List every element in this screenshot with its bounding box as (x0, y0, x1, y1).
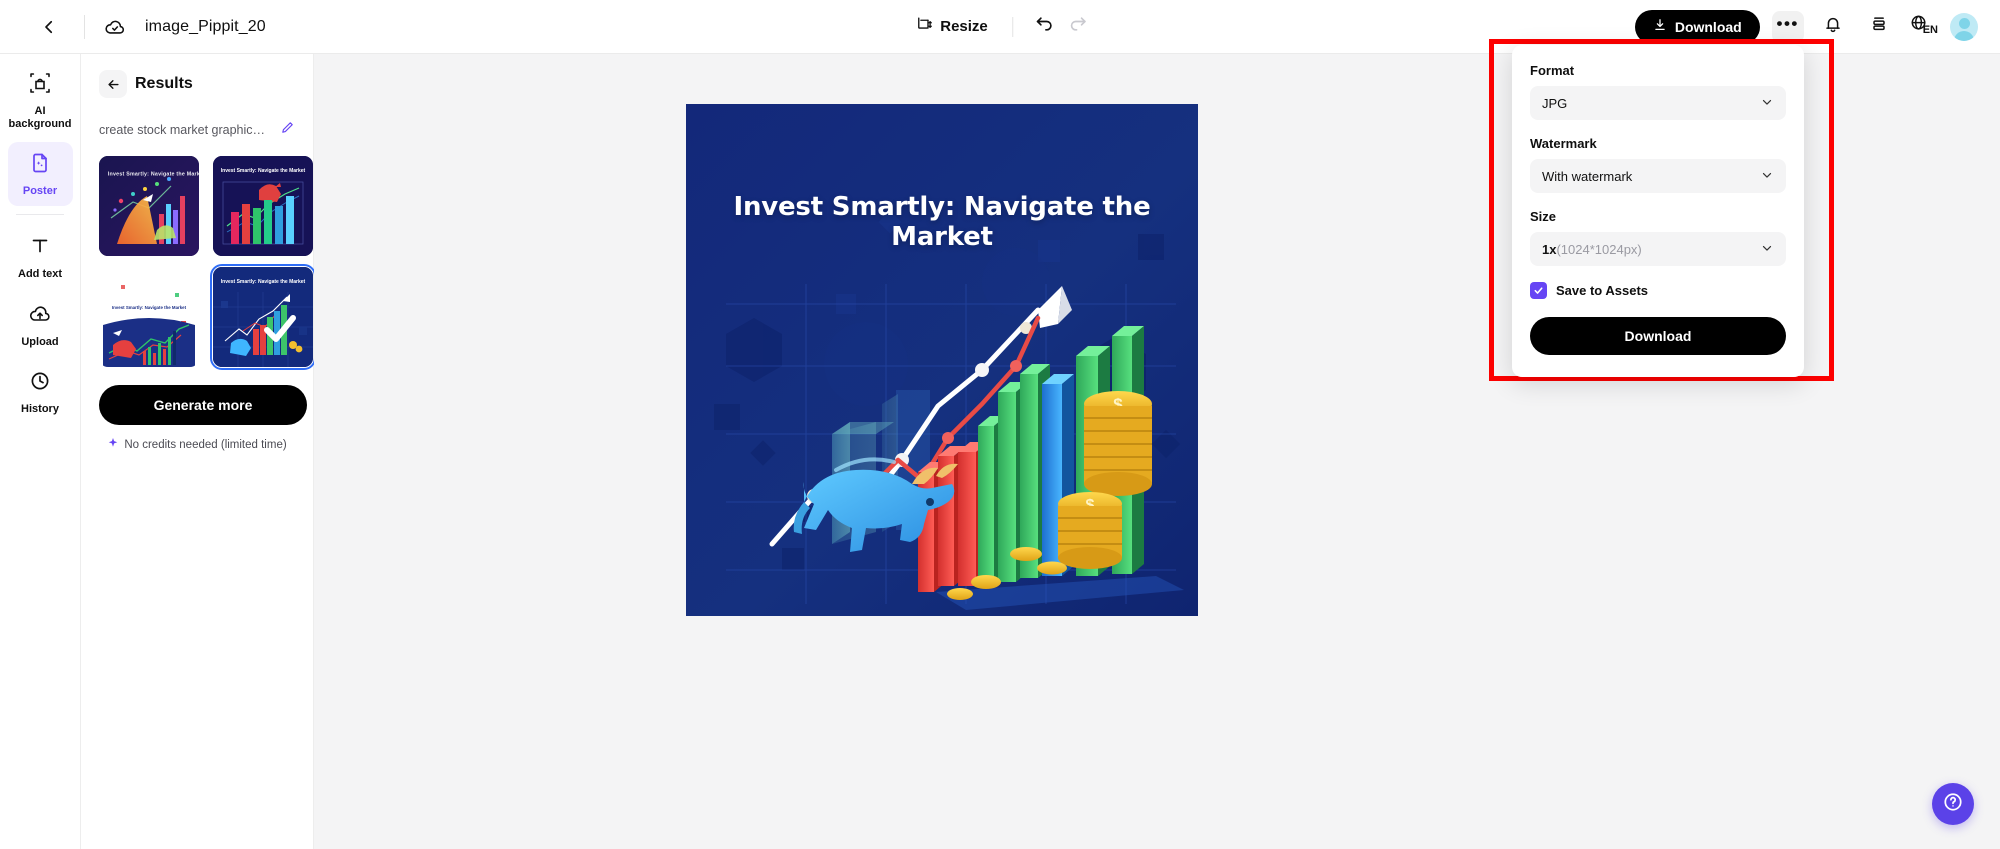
thumb-caption-4: Invest Smartly: Navigate the Market (221, 279, 306, 285)
left-rail: AIbackground Poster Add text (0, 54, 81, 849)
text-icon (28, 234, 52, 263)
crop-resize-icon (915, 16, 932, 37)
watermark-value: With watermark (1542, 169, 1632, 184)
thumb-caption-1: Invest Smartly: Navigate the Market (108, 172, 199, 178)
popover-download-button[interactable]: Download (1530, 317, 1786, 355)
resize-label: Resize (940, 18, 988, 35)
result-thumbnail-2[interactable]: Invest Smartly: Navigate the Market (213, 156, 313, 256)
ai-background-icon (28, 71, 52, 100)
size-select[interactable]: 1x(1024*1024px) (1530, 232, 1786, 266)
chevron-down-icon (1760, 95, 1774, 112)
download-settings-popover: Format JPG Watermark With watermark Size… (1512, 45, 1804, 377)
language-label: EN (1923, 24, 1938, 36)
sidebar-item-ai-background[interactable]: AIbackground (8, 62, 73, 138)
save-to-assets-checkbox[interactable]: Save to Assets (1530, 282, 1786, 299)
result-thumbnail-3[interactable]: Invest Smartly: Navigate the Market (99, 267, 199, 367)
page-title: Results (135, 75, 193, 93)
thumb-caption-2: Invest Smartly: Navigate the Market (221, 168, 306, 174)
file-title: image_Pippit_20 (145, 18, 266, 36)
cloud-saved-icon (103, 15, 127, 39)
sidebar-divider (16, 214, 64, 215)
generate-more-button[interactable]: Generate more (99, 385, 307, 425)
watermark-select[interactable]: With watermark (1530, 159, 1786, 193)
download-button-label: Download (1675, 19, 1742, 35)
sparkle-icon (107, 437, 119, 452)
watermark-label: Watermark (1530, 136, 1786, 151)
result-thumbnail-4[interactable]: Invest Smartly: Navigate the Market (213, 267, 313, 367)
upload-cloud-icon (28, 302, 52, 331)
stack-icon (1869, 14, 1889, 39)
sidebar-item-label: History (21, 403, 59, 416)
undo-button[interactable] (1027, 10, 1061, 44)
sidebar-item-label: AIbackground (9, 105, 72, 130)
language-button[interactable]: EN (1908, 13, 1938, 40)
back-button[interactable] (32, 10, 66, 44)
question-mark-icon (1942, 791, 1964, 818)
prompt-text: create stock market graphic pos... (99, 123, 267, 137)
size-value: 1x(1024*1024px) (1542, 242, 1642, 257)
download-icon (1653, 18, 1667, 35)
chevron-down-icon (1760, 168, 1774, 185)
sidebar-item-poster[interactable]: Poster (8, 142, 73, 206)
result-thumbnail-1[interactable]: Invest Smartly: Navigate the Market (99, 156, 199, 256)
app-root: image_Pippit_20 Resize (0, 0, 2000, 849)
more-options-button[interactable]: ••• (1772, 11, 1804, 43)
poster-icon (28, 151, 52, 180)
check-icon (1530, 282, 1547, 299)
selected-check-icon (260, 309, 300, 349)
top-bar-center-group: Resize (905, 10, 1095, 44)
format-select[interactable]: JPG (1530, 86, 1786, 120)
notifications-button[interactable] (1816, 10, 1850, 44)
more-options-icon: ••• (1777, 14, 1799, 34)
format-label: Format (1530, 63, 1786, 78)
artboard[interactable]: $ $ (686, 104, 1198, 616)
prompt-row: create stock market graphic pos... (99, 120, 295, 140)
sidebar-item-history[interactable]: History (8, 360, 73, 424)
size-label: Size (1530, 209, 1786, 224)
credits-note-label: No credits needed (limited time) (124, 439, 286, 451)
format-value: JPG (1542, 96, 1567, 111)
resize-button[interactable]: Resize (905, 10, 998, 43)
results-panel: Results create stock market graphic pos.… (81, 54, 314, 849)
artwork-title: Invest Smartly: Navigate the Market (686, 192, 1198, 252)
sidebar-item-label: Poster (23, 185, 57, 198)
top-bar-right-group: Download ••• (1635, 10, 1978, 44)
download-button[interactable]: Download (1635, 10, 1760, 44)
sidebar-item-label: Upload (21, 336, 58, 349)
redo-button[interactable] (1061, 10, 1095, 44)
clock-icon (28, 369, 52, 398)
chevron-down-icon (1760, 241, 1774, 258)
pencil-icon[interactable] (280, 120, 295, 140)
layers-button[interactable] (1862, 10, 1896, 44)
thumb-caption-3: Invest Smartly: Navigate the Market (112, 305, 187, 310)
size-value-bold: 1x (1542, 242, 1556, 257)
help-button[interactable] (1932, 783, 1974, 825)
save-to-assets-label: Save to Assets (1556, 283, 1648, 298)
bell-icon (1823, 14, 1843, 39)
size-value-muted: (1024*1024px) (1556, 242, 1641, 257)
results-thumbnail-grid: Invest Smartly: Navigate the Market (99, 156, 295, 367)
redo-icon (1068, 14, 1088, 39)
sidebar-item-upload[interactable]: Upload (8, 293, 73, 357)
sidebar-item-add-text[interactable]: Add text (8, 225, 73, 289)
sidebar-item-label: Add text (18, 268, 62, 281)
undo-icon (1034, 14, 1054, 39)
divider (84, 15, 85, 39)
panel-back-button[interactable] (99, 70, 127, 98)
panel-header: Results (99, 70, 295, 98)
avatar[interactable] (1950, 13, 1978, 41)
credits-note: No credits needed (limited time) (99, 437, 295, 452)
divider (1012, 17, 1013, 37)
